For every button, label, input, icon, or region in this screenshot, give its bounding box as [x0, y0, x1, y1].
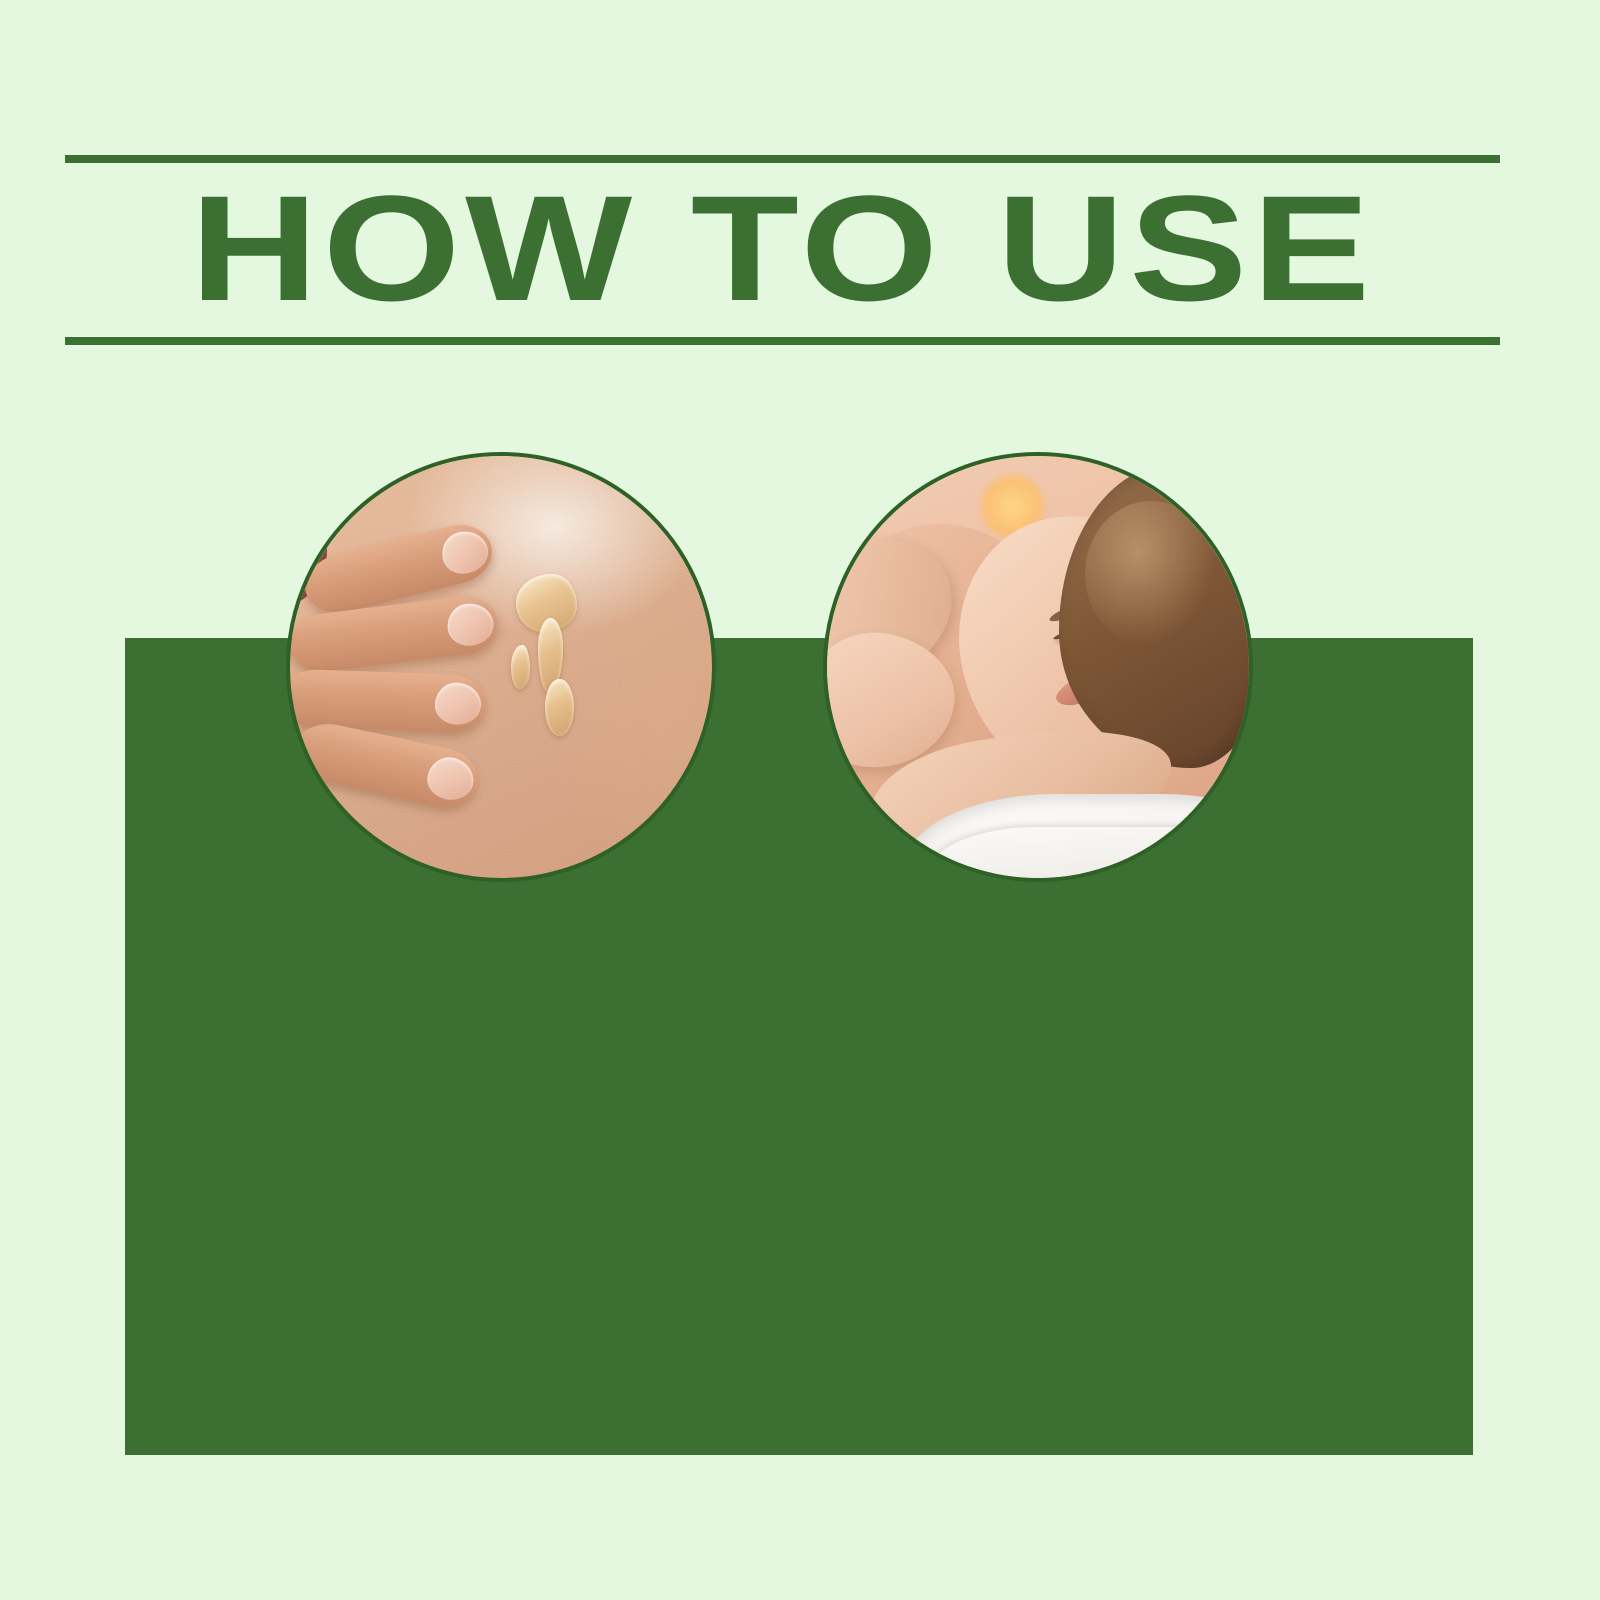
- page-title: HOW TO USE: [0, 159, 1600, 337]
- instructions-text: 1. For use on the skin: clean the skin a…: [321, 1584, 1541, 1600]
- title-bottom-rule: [65, 337, 1500, 345]
- spa-massage-photo: [823, 452, 1253, 882]
- applying-hand: [290, 507, 484, 845]
- oil-droplets: [509, 574, 593, 743]
- fingernail: [433, 682, 480, 726]
- spa-massage-photo-frame: [827, 456, 1249, 878]
- oil-blob: [511, 645, 530, 689]
- oil-blob: [545, 679, 574, 736]
- oil-on-skin-photo: [286, 452, 716, 882]
- fingernail: [437, 527, 492, 579]
- header-block: HOW TO USE: [65, 155, 1500, 345]
- instruction-step-1: 1. For use on the skin: clean the skin a…: [321, 1584, 1541, 1600]
- fingernail: [424, 754, 478, 805]
- oil-on-skin-photo-frame: [290, 456, 712, 878]
- fingernail: [446, 600, 497, 647]
- hair-highlight: [1085, 501, 1217, 647]
- how-to-use-poster: HOW TO USE 1. For use on the skin: clean…: [0, 0, 1600, 1600]
- spa-towel-fold: [928, 827, 1249, 878]
